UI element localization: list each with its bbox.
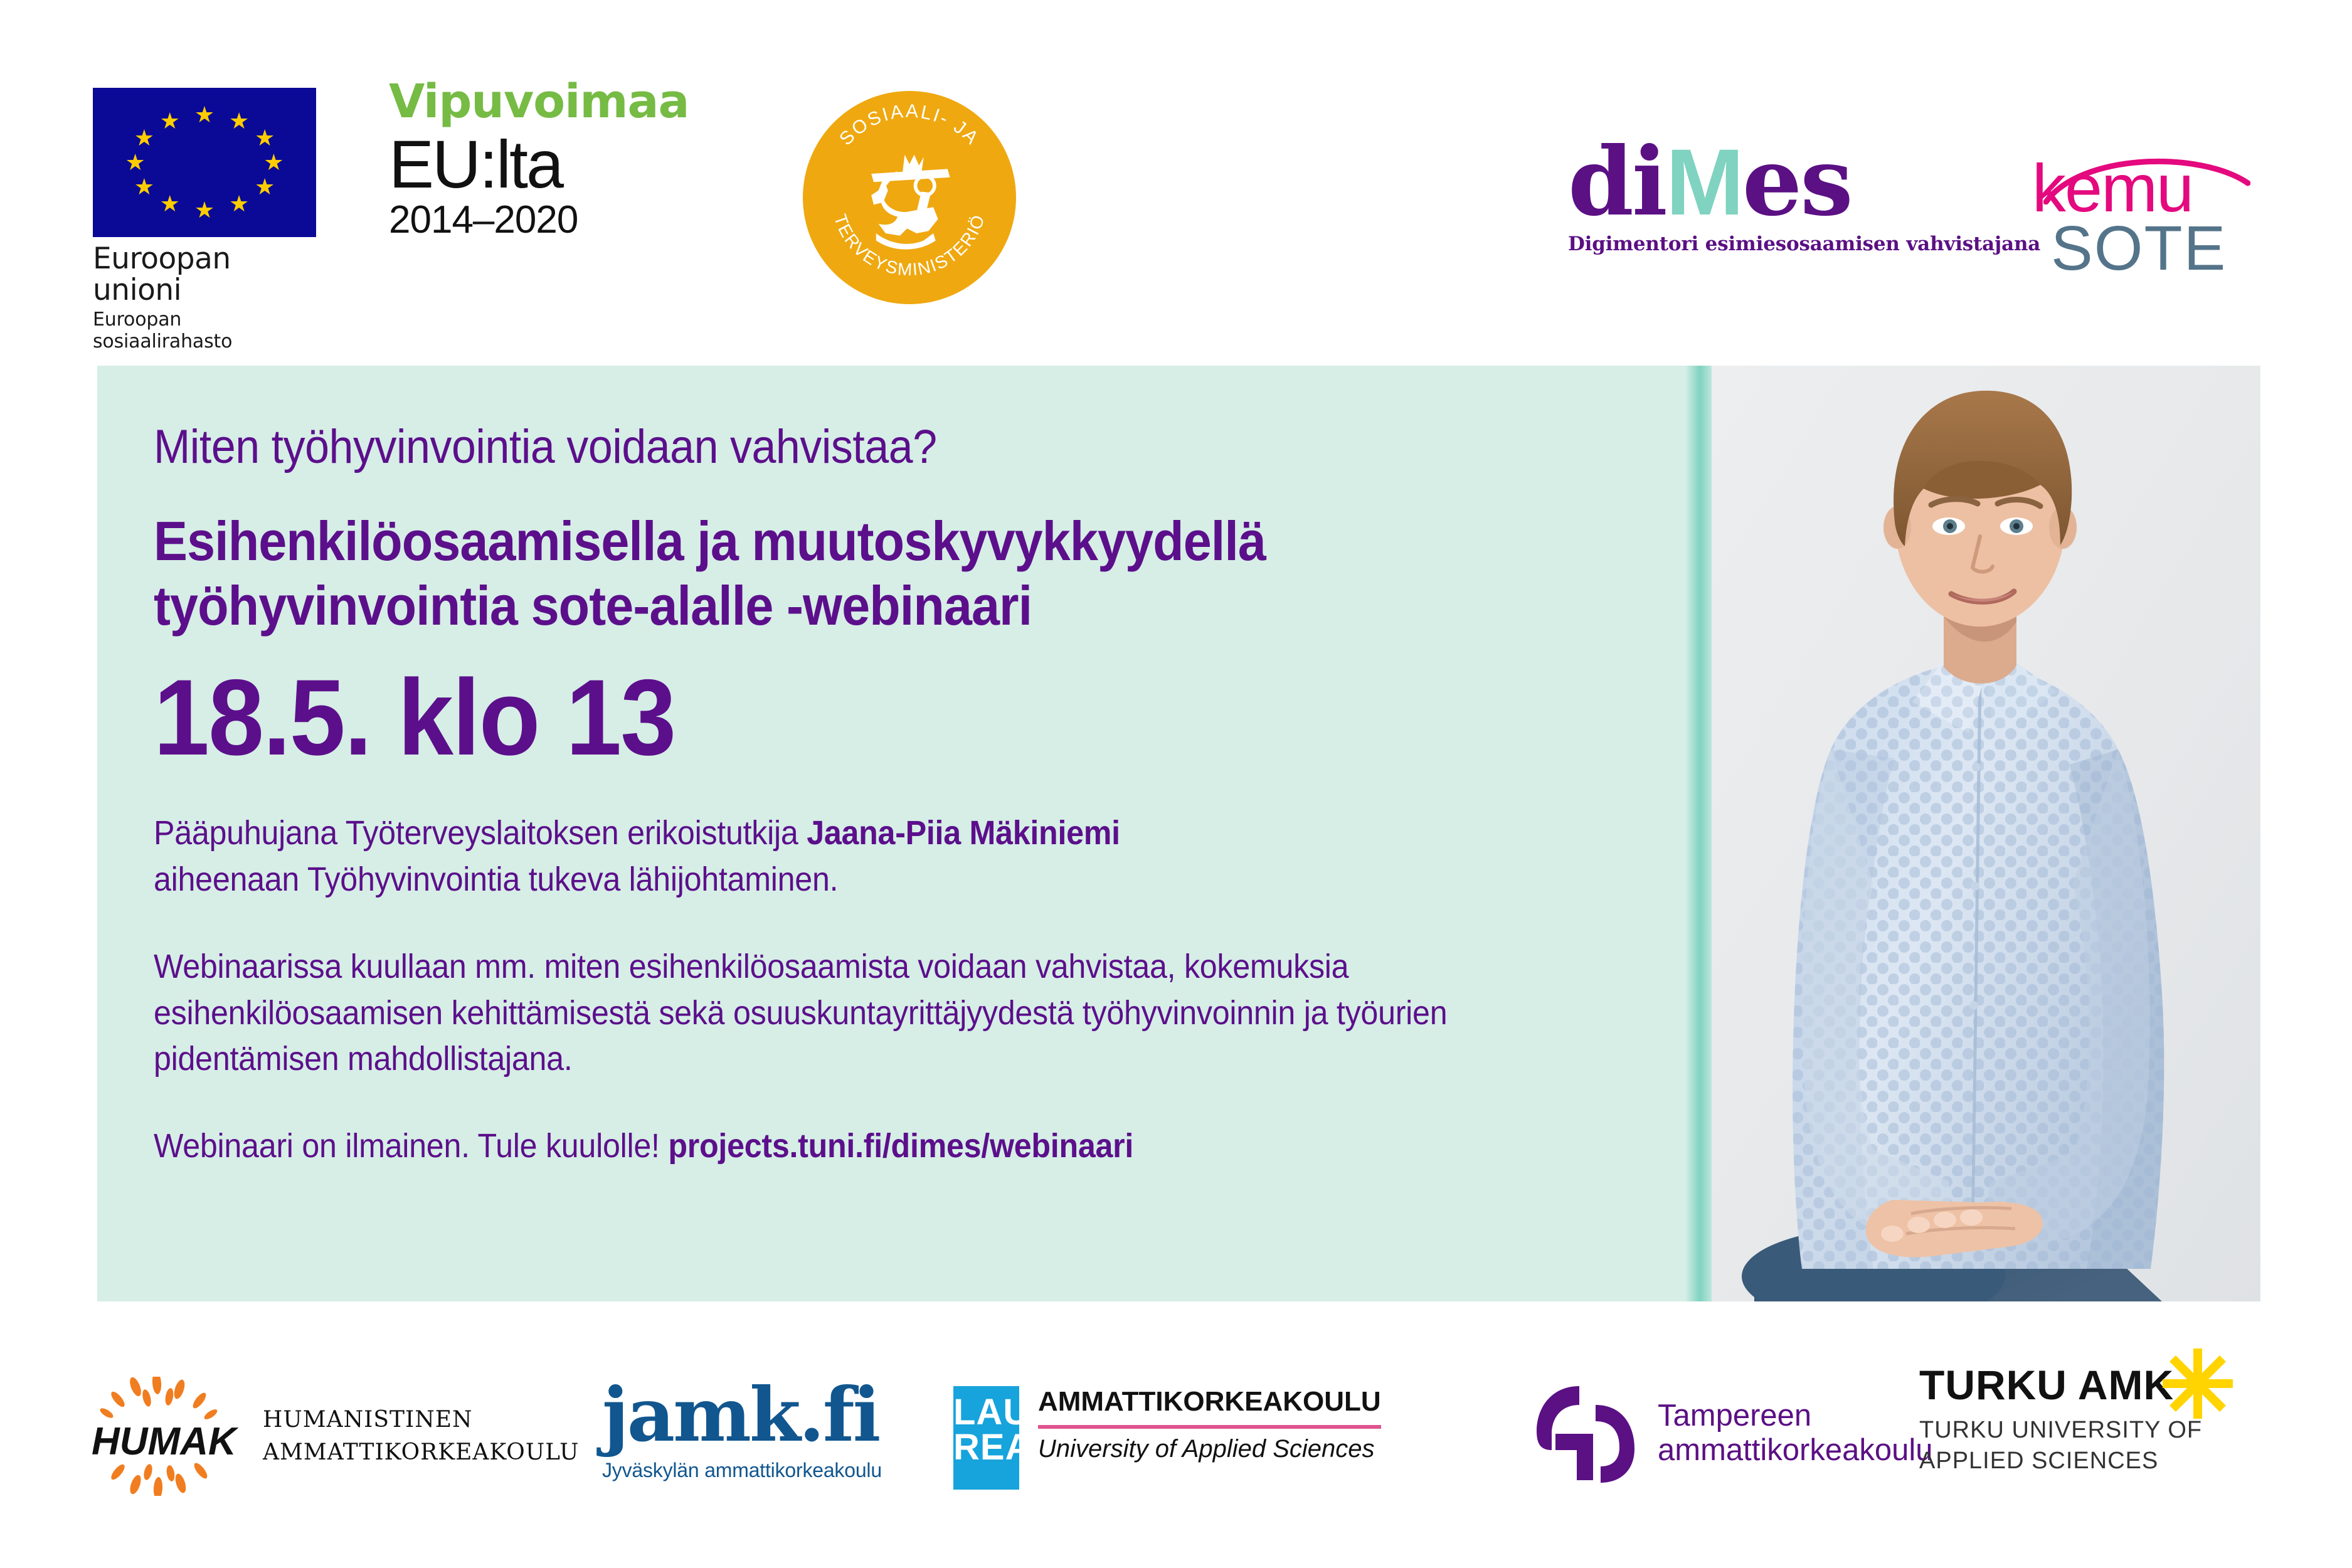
vipuvoimaa-logo: Vipuvoimaa EU:lta 2014–2020 — [389, 78, 689, 240]
panel-title-line2: työhyvinvointia sote-alalle -webinaari — [154, 573, 1563, 638]
laurea-mark-line2: REA — [953, 1430, 1019, 1465]
speaker-topic: aiheenaan Työhyvinvointia tukeva lähijoh… — [154, 861, 838, 898]
vipuvoimaa-line2: EU:lta — [389, 129, 689, 199]
speaker-photo — [1685, 366, 2260, 1301]
turku-line3: APPLIED SCIENCES — [1919, 1446, 2202, 1476]
signup-url[interactable]: projects.tuni.fi/dimes/webinaari — [668, 1127, 1133, 1165]
panel-paragraph-description: Webinaarissa kuullaan mm. miten esihenki… — [154, 944, 1578, 1082]
laurea-logo: LAU REA AMMATTIKORKEAKOULU University of… — [953, 1386, 1381, 1490]
panel-title-line1: Esihenkilöosaamisella ja muutoskyvykkyyd… — [154, 509, 1563, 574]
kemusote-line2: SOTE — [2051, 219, 2227, 278]
finland-lion-icon — [850, 138, 969, 257]
photo-left-fade — [1685, 366, 1712, 1301]
panel-kicker: Miten työhyvinvointia voidaan vahvistaa? — [154, 421, 1563, 474]
main-content-panel: Miten työhyvinvointia voidaan vahvistaa?… — [97, 366, 1685, 1301]
kemusote-logo: kemu SOTE — [2032, 157, 2227, 278]
top-logo-bar: ★ ★ ★ ★ ★ ★ ★ ★ ★ ★ ★ ★ Euroopan unioni … — [0, 0, 2352, 351]
signup-text: Webinaari on ilmainen. Tule kuulolle! — [154, 1127, 668, 1165]
tamk-mark-icon — [1530, 1380, 1640, 1486]
dimes-tagline: Digimentori esimiesosaamisen vahvistajan… — [1568, 233, 2040, 255]
humak-mark-icon: HUMAK — [88, 1377, 248, 1496]
turku-subtitle: TURKU UNIVERSITY OF APPLIED SCIENCES — [1919, 1415, 2202, 1476]
laurea-mark-icon: LAU REA — [953, 1386, 1019, 1490]
laurea-line2: University of Applied Sciences — [1038, 1435, 1381, 1463]
dimes-logo: diMes Digimentori esimiesosaamisen vahvi… — [1568, 135, 2040, 255]
panel-paragraph-signup: Webinaari on ilmainen. Tule kuulolle! pr… — [154, 1123, 1578, 1169]
panel-paragraph-speaker: Pääpuhujana Työterveyslaitoksen erikoist… — [154, 810, 1578, 903]
jamk-logo: jamk.fi Jyväskylän ammattikorkeakoulu — [602, 1380, 882, 1482]
svg-text:HUMAK: HUMAK — [92, 1420, 239, 1463]
dimes-word-part3: es — [1742, 127, 1851, 237]
jamk-subtitle: Jyväskylän ammattikorkeakoulu — [602, 1459, 882, 1482]
poster-root: ★ ★ ★ ★ ★ ★ ★ ★ ★ ★ ★ ★ Euroopan unioni … — [0, 0, 2352, 1568]
laurea-line1: AMMATTIKORKEAKOULU — [1038, 1386, 1381, 1417]
dimes-word-part1: di — [1568, 127, 1666, 237]
turku-star-icon — [2160, 1346, 2235, 1421]
bottom-logo-bar: HUMAK HUMANISTINEN AMMATTIKORKEAKOULU ja… — [0, 1336, 2352, 1568]
eu-logo: ★ ★ ★ ★ ★ ★ ★ ★ ★ ★ ★ ★ Euroopan unioni … — [93, 88, 319, 352]
jamk-wordmark: jamk.fi — [602, 1380, 882, 1450]
speaker-name: Jaana-Piia Mäkiniemi — [807, 814, 1120, 852]
panel-title: Esihenkilöosaamisella ja muutoskyvykkyyd… — [154, 509, 1563, 639]
eu-logo-caption: Euroopan unioni — [93, 243, 319, 306]
turku-amk-logo: TURKU AMK TURKU UNIVERSITY OF APPLIED SC… — [1919, 1361, 2202, 1476]
eu-flag-icon: ★ ★ ★ ★ ★ ★ ★ ★ ★ ★ ★ ★ — [93, 88, 316, 237]
speaker-intro: Pääpuhujana Työterveyslaitoksen erikoist… — [154, 814, 807, 852]
laurea-mark-line1: LAU — [953, 1395, 1019, 1430]
humak-logo: HUMAK HUMANISTINEN AMMATTIKORKEAKOULU — [88, 1377, 579, 1496]
panel-date: 18.5. klo 13 — [154, 664, 1578, 771]
laurea-divider — [1038, 1425, 1381, 1429]
humak-text: HUMANISTINEN AMMATTIKORKEAKOULU — [263, 1404, 579, 1469]
tamk-line2: ammattikorkeakoulu — [1658, 1433, 1932, 1468]
kemusote-line1: kemu — [2032, 157, 2227, 219]
tamk-logo: Tampereen ammattikorkeakoulu — [1530, 1380, 1932, 1486]
humak-line2: AMMATTIKORKEAKOULU — [263, 1436, 579, 1469]
stm-seal-logo: SOSIAALI- JA TERVEYSMINISTERIÖ — [803, 91, 1016, 304]
humak-line1: HUMANISTINEN — [263, 1404, 579, 1436]
vipuvoimaa-line1: Vipuvoimaa — [389, 78, 689, 125]
tamk-line1: Tampereen — [1658, 1399, 1932, 1433]
eu-logo-subcaption: Euroopan sosiaalirahasto — [93, 309, 319, 352]
dimes-word-part2: M — [1666, 129, 1742, 235]
vipuvoimaa-line3: 2014–2020 — [389, 201, 689, 240]
